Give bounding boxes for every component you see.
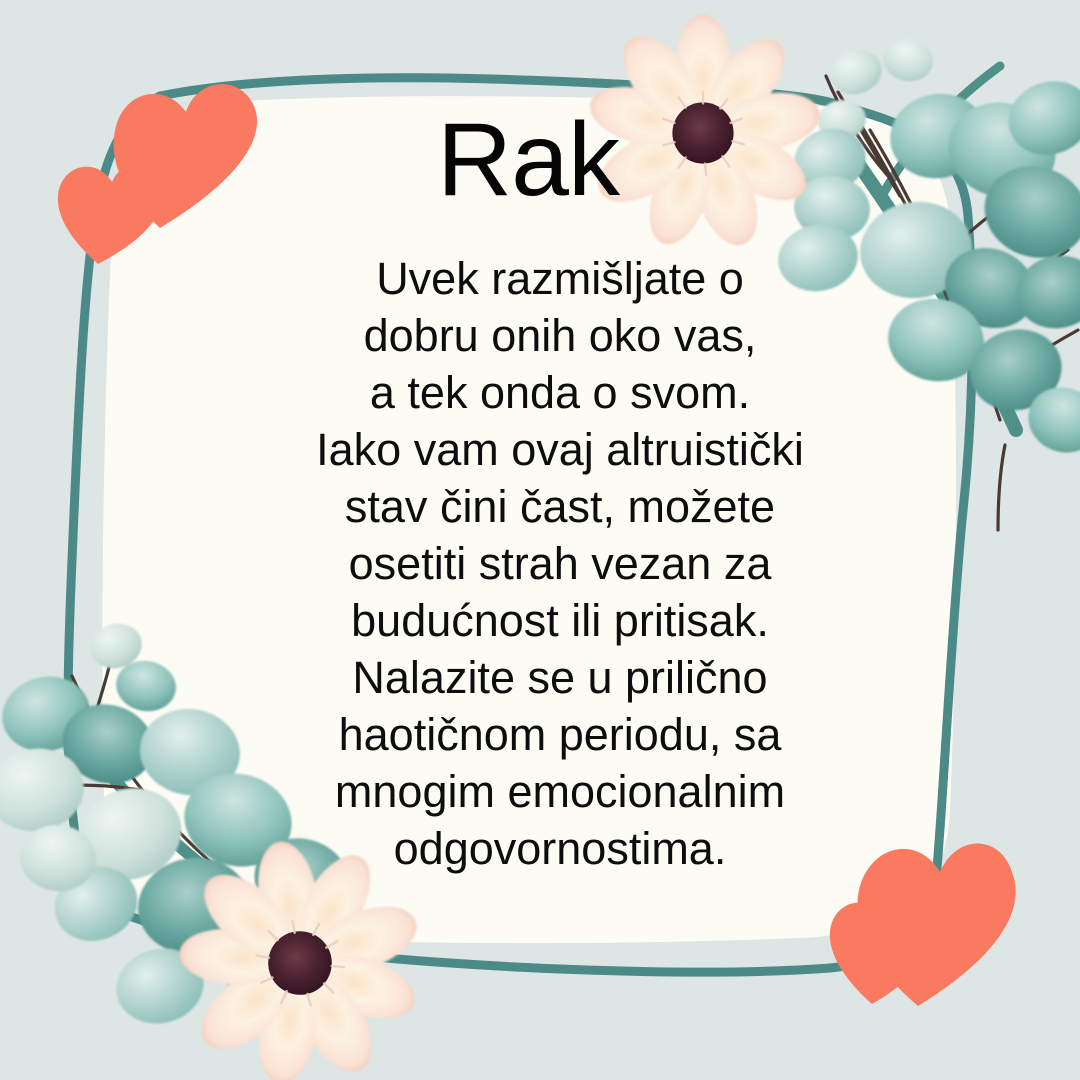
poster-artwork (0, 0, 1080, 1080)
zodiac-poster: Rak Uvek razmišljate o dobru onih oko va… (0, 0, 1080, 1080)
